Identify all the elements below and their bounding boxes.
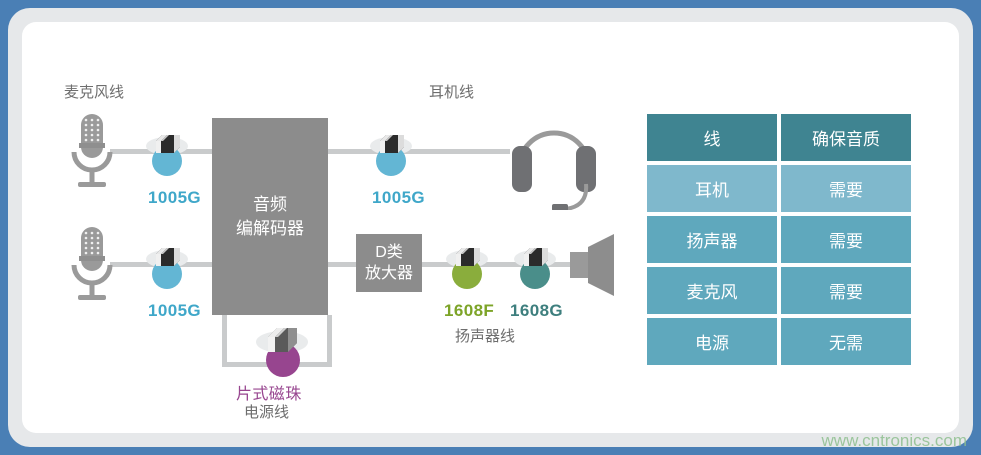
table-cell-device: 麦克风 [645,265,779,316]
component-speaker-bead-f [444,245,490,291]
table-cell-device: 扬声器 [645,214,779,265]
block-amp-line1: D类 [365,242,413,263]
headset-icon [506,118,602,210]
label-1005G-mic-top: 1005G [148,188,201,208]
chip-component-icon [519,245,551,271]
table-cell-required: 需要 [779,163,913,214]
component-speaker-bead-g [512,245,558,291]
table-row: 耳机 需要 [645,163,913,214]
microphone-icon [66,112,118,194]
screenshot-root: 音频 编解码器 D类 放大器 [0,0,981,455]
diagram-canvas: 音频 编解码器 D类 放大器 [22,22,959,433]
watermark: www.cntronics.com [822,431,967,451]
label-1608F: 1608F [444,301,494,321]
wire-power-right [327,315,332,367]
table-row: 麦克风 需要 [645,265,913,316]
block-amp-line2: 放大器 [365,263,413,284]
label-mic-line: 麦克风线 [64,84,124,102]
wire-codec-to-amp [328,262,356,267]
wire-headphone [328,149,510,154]
table-cell-device: 电源 [645,316,779,367]
label-power-bead: 片式磁珠 [236,380,302,404]
chip-component-icon [151,132,183,158]
label-1608G: 1608G [510,301,563,321]
speaker-icon [570,234,626,296]
table-row: 电源 无需 [645,316,913,367]
block-audio-codec-line1: 音频 [236,193,304,217]
chip-component-icon [375,132,407,158]
table-cell-required: 需要 [779,214,913,265]
table-cell-required: 需要 [779,265,913,316]
block-class-d-amplifier: D类 放大器 [356,234,422,292]
table-cell-device: 耳机 [645,163,779,214]
label-1005G-mic-bottom: 1005G [148,301,201,321]
component-codec-out-bead [368,132,414,178]
component-power-bead [254,325,310,381]
diagram-stage: 音频 编解码器 D类 放大器 [22,22,959,433]
microphone-icon [66,225,118,307]
label-headphone-line: 耳机线 [429,84,474,102]
requirements-table: 线 确保音质 耳机 需要 扬声器 需要 麦克风 需要 电源 无需 [645,112,913,367]
label-power-line: 电源线 [244,404,289,422]
wire-power-left [222,315,227,367]
table-header-cell-quality: 确保音质 [779,112,913,163]
block-audio-codec-line2: 编解码器 [236,217,304,241]
label-speaker-line: 扬声器线 [455,328,515,346]
table-row: 扬声器 需要 [645,214,913,265]
chip-component-icon [262,325,302,357]
block-audio-codec: 音频 编解码器 [212,118,328,315]
table-cell-required: 无需 [779,316,913,367]
chip-component-icon [451,245,483,271]
component-mic-bottom-bead [144,245,190,291]
chip-component-icon [151,245,183,271]
table-header-row: 线 确保音质 [645,112,913,163]
label-1005G-codec-out: 1005G [372,188,425,208]
table-header-cell-line: 线 [645,112,779,163]
component-mic-top-bead [144,132,190,178]
